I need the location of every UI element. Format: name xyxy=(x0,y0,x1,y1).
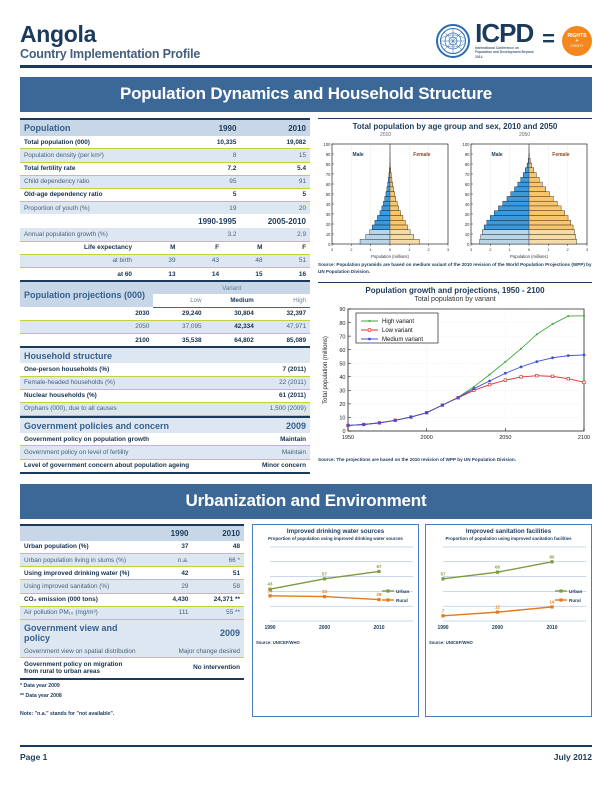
growth-source-note: Source: The projections are based on the… xyxy=(318,457,592,464)
projection-medium: 42,334 xyxy=(206,320,258,333)
row-value-1990: 5 xyxy=(171,188,241,201)
svg-text:33: 33 xyxy=(322,589,327,594)
row-label: Government policy on migration from rura… xyxy=(20,658,141,679)
row-value: 7 (2011) xyxy=(211,363,310,376)
svg-text:60: 60 xyxy=(465,182,470,187)
un-emblem-icon xyxy=(436,24,470,58)
row-value: Major change desired xyxy=(141,645,244,658)
table-row: Urban population living in slums (%) n.a… xyxy=(20,554,244,567)
population-pyramid-chart: Total population by age group and sex, 2… xyxy=(318,118,592,276)
svg-text:2: 2 xyxy=(567,247,570,252)
row-label: Annual population growth (%) xyxy=(20,228,171,241)
svg-text:Urban: Urban xyxy=(569,589,582,594)
row-label: Urban population (%) xyxy=(20,541,141,554)
growth-chart-subtitle: Total population by variant xyxy=(318,296,592,303)
svg-text:2010: 2010 xyxy=(546,625,557,631)
table-row: Government view on spatial distribution … xyxy=(20,645,244,658)
svg-text:Female: Female xyxy=(413,152,430,158)
row-value-2010: 51 xyxy=(192,567,244,580)
table-row: at birth 39 43 48 51 xyxy=(20,254,310,267)
row-label: Total population (000) xyxy=(20,136,171,149)
svg-text:Urban: Urban xyxy=(396,589,409,594)
svg-text:0: 0 xyxy=(389,247,392,252)
svg-text:70: 70 xyxy=(465,172,470,177)
projection-medium: 30,804 xyxy=(206,307,258,320)
row-label: at birth xyxy=(20,254,136,267)
row-label: One-person households (%) xyxy=(20,363,211,376)
svg-text:1990: 1990 xyxy=(437,625,448,631)
svg-text:2: 2 xyxy=(428,247,431,252)
variant-label: Variant xyxy=(153,281,310,294)
table-row: Female-headed households (%) 22 (2011) xyxy=(20,376,310,389)
pyramid-panel-2050: 2050 0102030405060708090100MaleFemale321… xyxy=(457,132,592,260)
row-value: 16 xyxy=(267,268,311,281)
svg-text:2010: 2010 xyxy=(373,625,384,631)
pyramid-source-note: Source: Population pyramids are based on… xyxy=(318,262,592,276)
table-row: Urban population (%) 37 48 xyxy=(20,541,244,554)
footnote-1: * Data year 2009 xyxy=(20,682,244,690)
footer-divider xyxy=(20,745,592,748)
header-divider xyxy=(20,65,592,68)
table-row: Orphans (000), due to all causes 1,500 (… xyxy=(20,402,310,415)
svg-text:90: 90 xyxy=(465,152,470,157)
growth-chart-svg: 01020304050607080901950200020502100Total… xyxy=(318,303,590,455)
svg-text:Female: Female xyxy=(552,152,569,158)
row-label: at 60 xyxy=(20,268,136,281)
population-table-title: Population xyxy=(20,119,171,136)
sanitation-source-note: Source: UNICEF/WHO xyxy=(429,640,588,645)
projection-low: 29,240 xyxy=(153,307,205,320)
variant-col-medium: Medium xyxy=(206,294,258,307)
policies-header-row: Government policies and concern 2009 xyxy=(20,417,310,433)
water-chart-title: Improved drinking water sources xyxy=(256,528,415,535)
row-value-1990: 7.2 xyxy=(171,162,241,175)
sanitation-chart-subtitle: Proportion of population using improved … xyxy=(429,536,588,541)
svg-text:60: 60 xyxy=(339,348,345,354)
growth-value-2: 2.9 xyxy=(240,228,310,241)
svg-text:29: 29 xyxy=(377,592,382,597)
pyramid-chart-title: Total population by age group and sex, 2… xyxy=(318,122,592,131)
projection-low: 37,095 xyxy=(153,320,205,333)
icpd-acronym: ICPD xyxy=(475,22,535,45)
water-chart-subtitle: Proportion of population using improved … xyxy=(256,536,415,541)
svg-text:2: 2 xyxy=(489,247,492,252)
svg-text:1: 1 xyxy=(547,247,550,252)
population-charts-column: Total population by age group and sex, 2… xyxy=(318,118,592,474)
row-label: Population density (per km²) xyxy=(20,149,171,162)
col-year-2010: 2010 xyxy=(240,119,310,136)
svg-text:100: 100 xyxy=(463,142,471,147)
policies-year: 2009 xyxy=(211,417,310,433)
svg-text:2: 2 xyxy=(350,247,353,252)
row-value-1990: 8 xyxy=(171,149,241,162)
table-row: One-person households (%) 7 (2011) xyxy=(20,363,310,376)
government-policies-table: Government policies and concern 2009 Gov… xyxy=(20,416,310,474)
row-label: Government view on spatial distribution xyxy=(20,645,141,658)
svg-text:1: 1 xyxy=(370,247,373,252)
row-value-2010: 19,082 xyxy=(240,136,310,149)
table-row: Old-age dependency ratio 5 5 xyxy=(20,188,310,201)
sanitation-chart-svg: 19902000201057668071219UrbanRural xyxy=(429,541,588,639)
population-table: Population 1990 2010 Total population (0… xyxy=(20,118,310,242)
row-label: Using improved sanitation (%) xyxy=(20,580,141,593)
svg-text:57: 57 xyxy=(322,571,327,576)
table-row: Population density (per km²) 8 15 xyxy=(20,149,310,162)
svg-text:3: 3 xyxy=(447,247,450,252)
table-row: Government policy on level of fertility … xyxy=(20,446,310,459)
water-source-note: Source: UNICEF/WHO xyxy=(256,640,415,645)
growth-chart-title: Population growth and projections, 1950 … xyxy=(318,286,592,295)
table-row: Using improved sanitation (%) 29 58 xyxy=(20,580,244,593)
svg-text:Rural: Rural xyxy=(569,598,581,603)
row-value-1990: 42 xyxy=(141,567,193,580)
svg-text:2000: 2000 xyxy=(319,625,330,631)
row-label: Government policy on level of fertility xyxy=(20,446,211,459)
variant-col-low: Low xyxy=(153,294,205,307)
document-subtitle: Country Implementation Profile xyxy=(20,47,200,61)
projection-year: 2050 xyxy=(20,320,153,333)
row-label: Air pollution PM₁₀ (mg/m³) xyxy=(20,606,141,619)
row-value-1990: 29 xyxy=(141,580,193,593)
sex-col-f1: F xyxy=(180,242,224,255)
svg-text:90: 90 xyxy=(339,307,345,313)
row-value: No intervention xyxy=(141,658,244,679)
life-expectancy-label: Life expectancy xyxy=(20,242,136,255)
svg-text:1990: 1990 xyxy=(264,625,275,631)
page-number: Page 1 xyxy=(20,752,47,762)
svg-text:Medium variant: Medium variant xyxy=(382,337,423,343)
table-row: Government policy on population growth M… xyxy=(20,433,310,446)
row-value-2010: 58 xyxy=(192,580,244,593)
document-header: Angola Country Implementation Profile IC… xyxy=(20,0,592,61)
row-value: 22 (2011) xyxy=(211,376,310,389)
urban-col-2010: 2010 xyxy=(192,525,244,541)
country-name: Angola xyxy=(20,22,200,46)
svg-text:50: 50 xyxy=(339,361,345,367)
col-period-1990-1995: 1990-1995 xyxy=(171,214,241,228)
projection-year: 2100 xyxy=(20,333,153,346)
row-value: 48 xyxy=(223,254,267,267)
svg-text:19: 19 xyxy=(550,599,555,604)
variant-header-row: Population projections (000) Variant xyxy=(20,281,310,294)
svg-text:1: 1 xyxy=(408,247,411,252)
sanitation-panel: Improved sanitation facilities Proportio… xyxy=(425,524,592,717)
svg-text:70: 70 xyxy=(326,172,331,177)
projection-medium: 64,802 xyxy=(206,333,258,346)
row-value-2010: 48 xyxy=(192,541,244,554)
section-banner-population: Population Dynamics and Household Struct… xyxy=(20,77,592,112)
svg-text:70: 70 xyxy=(339,334,345,340)
svg-text:30: 30 xyxy=(326,212,331,217)
household-title: Household structure xyxy=(20,347,310,363)
document-page: Angola Country Implementation Profile IC… xyxy=(0,0,612,792)
urban-policy-title: Government view and policy xyxy=(20,619,141,645)
svg-text:40: 40 xyxy=(465,202,470,207)
svg-text:43: 43 xyxy=(268,582,273,587)
row-value: Maintain xyxy=(211,433,310,446)
svg-text:2000: 2000 xyxy=(421,435,433,441)
table-row: Level of government concern about popula… xyxy=(20,459,310,473)
row-label: Orphans (000), due to all causes xyxy=(20,402,211,415)
sex-col-m1: M xyxy=(136,242,180,255)
row-value-2010: 20 xyxy=(240,202,310,215)
icpd-wordmark: ICPD International Conference on Populat… xyxy=(475,22,535,59)
row-value-2010: 5 xyxy=(240,188,310,201)
table-row: Child dependency ratio 95 91 xyxy=(20,175,310,188)
row-value-2010: 5.4 xyxy=(240,162,310,175)
svg-text:High variant: High variant xyxy=(382,319,414,325)
row-label: Child dependency ratio xyxy=(20,175,171,188)
row-label: Government policy on population growth xyxy=(20,433,211,446)
row-label: Female-headed households (%) xyxy=(20,376,211,389)
pyramid-svg-2050: 0102030405060708090100MaleFemale3210123P… xyxy=(457,138,589,260)
svg-text:20: 20 xyxy=(465,222,470,227)
svg-text:57: 57 xyxy=(441,571,446,576)
svg-text:2100: 2100 xyxy=(578,435,590,441)
row-label: Total fertility rate xyxy=(20,162,171,175)
row-label: Old-age dependency ratio xyxy=(20,188,171,201)
svg-text:12: 12 xyxy=(495,604,500,609)
svg-text:50: 50 xyxy=(326,192,331,197)
svg-text:2000: 2000 xyxy=(492,625,503,631)
table-row: CO₂ emission (000 tons) 4,430 24,371 ** xyxy=(20,593,244,606)
col-period-2005-2010: 2005-2010 xyxy=(240,214,310,228)
projection-low: 35,538 xyxy=(153,333,205,346)
row-value-1990: 111 xyxy=(141,606,193,619)
row-label: Proportion of youth (%) xyxy=(20,202,171,215)
row-value-2010: 66 * xyxy=(192,554,244,567)
table-row: Proportion of youth (%) 19 20 xyxy=(20,202,310,215)
footnote-2: ** Data year 2008 xyxy=(20,692,244,700)
icpd-logo: ICPD International Conference on Populat… xyxy=(436,22,592,59)
table-row: Government policy on migration from rura… xyxy=(20,658,244,679)
table-row: 2030 29,240 30,804 32,397 xyxy=(20,307,310,320)
table-row: 2100 35,538 64,802 85,089 xyxy=(20,333,310,346)
svg-text:66: 66 xyxy=(495,564,500,569)
publication-date: July 2012 xyxy=(554,752,592,762)
svg-text:80: 80 xyxy=(326,162,331,167)
row-value: 51 xyxy=(267,254,311,267)
row-label: Level of government concern about popula… xyxy=(20,459,211,473)
svg-text:40: 40 xyxy=(339,375,345,381)
badge-line-3: DIGNITY xyxy=(571,45,584,49)
household-header-row: Household structure xyxy=(20,347,310,363)
projections-title: Population projections (000) xyxy=(20,281,153,307)
projection-high: 85,089 xyxy=(258,333,310,346)
sex-col-m2: M xyxy=(223,242,267,255)
row-value: 1,500 (2009) xyxy=(211,402,310,415)
row-label: Nuclear households (%) xyxy=(20,389,211,402)
rights-dignity-badge: RIGHTS + DIGNITY xyxy=(562,26,592,56)
sanitation-chart-title: Improved sanitation facilities xyxy=(429,528,588,535)
household-structure-table: Household structure One-person household… xyxy=(20,346,310,416)
urban-policy-header-row: Government view and policy 2009 xyxy=(20,619,244,645)
svg-text:20: 20 xyxy=(339,402,345,408)
row-value-1990: 10,335 xyxy=(171,136,241,149)
svg-text:10: 10 xyxy=(465,232,470,237)
environment-charts-column: Improved drinking water sources Proporti… xyxy=(252,524,592,717)
svg-text:60: 60 xyxy=(326,182,331,187)
water-chart-svg: 199020002010435767343329UrbanRural xyxy=(256,541,415,639)
svg-text:80: 80 xyxy=(339,321,345,327)
svg-text:30: 30 xyxy=(339,388,345,394)
row-label: Urban population living in slums (%) xyxy=(20,554,141,567)
svg-text:3: 3 xyxy=(331,247,334,252)
period-header-row: 1990-1995 2005-2010 xyxy=(20,214,310,228)
svg-text:Population (millions): Population (millions) xyxy=(510,254,548,259)
svg-text:3: 3 xyxy=(586,247,589,252)
table-row: Air pollution PM₁₀ (mg/m³) 111 55 ** xyxy=(20,606,244,619)
svg-text:Total population (millions): Total population (millions) xyxy=(323,336,329,404)
row-value-2010: 15 xyxy=(240,149,310,162)
svg-text:Male: Male xyxy=(353,152,364,158)
svg-text:20: 20 xyxy=(326,222,331,227)
svg-text:10: 10 xyxy=(339,416,345,422)
projection-high: 47,971 xyxy=(258,320,310,333)
equals-sign: = xyxy=(542,26,555,52)
population-growth-chart: Population growth and projections, 1950 … xyxy=(318,282,592,464)
row-value-2010: 55 ** xyxy=(192,606,244,619)
svg-text:Male: Male xyxy=(492,152,503,158)
urbanization-tables-column: 1990 2010 Urban population (%) 37 48 Urb… xyxy=(20,524,244,717)
urban-col-1990: 1990 xyxy=(141,525,193,541)
svg-text:Low variant: Low variant xyxy=(382,328,413,334)
svg-text:40: 40 xyxy=(326,202,331,207)
svg-text:90: 90 xyxy=(326,152,331,157)
urbanization-table: 1990 2010 Urban population (%) 37 48 Urb… xyxy=(20,524,244,680)
availability-note: Note: "n.a." stands for "not available". xyxy=(20,711,244,717)
row-label: Using improved drinking water (%) xyxy=(20,567,141,580)
drinking-water-panel: Improved drinking water sources Proporti… xyxy=(252,524,419,717)
row-value-2010: 91 xyxy=(240,175,310,188)
policies-title: Government policies and concern xyxy=(20,417,211,433)
table-row: Total population (000) 10,335 19,082 xyxy=(20,136,310,149)
growth-value-1: 3.2 xyxy=(171,228,241,241)
svg-text:100: 100 xyxy=(324,142,332,147)
table-row: Total fertility rate 7.2 5.4 xyxy=(20,162,310,175)
svg-text:3: 3 xyxy=(470,247,473,252)
svg-text:Population (millions): Population (millions) xyxy=(371,254,409,259)
row-value: Minor concern xyxy=(211,459,310,473)
row-value: 15 xyxy=(223,268,267,281)
pyramid-panel-2010: 2010 0102030405060708090100MaleFemale321… xyxy=(318,132,453,260)
table-row-growth: Annual population growth (%) 3.2 2.9 xyxy=(20,228,310,241)
table-header-row: Population 1990 2010 xyxy=(20,119,310,136)
row-value-1990: 4,430 xyxy=(141,593,193,606)
section-banner-urbanization: Urbanization and Environment xyxy=(20,484,592,519)
urban-policy-year: 2009 xyxy=(141,619,244,645)
table-row: Using improved drinking water (%) 42 51 xyxy=(20,567,244,580)
document-footer: Page 1 July 2012 xyxy=(20,745,592,763)
svg-text:80: 80 xyxy=(550,554,555,559)
svg-text:2050: 2050 xyxy=(499,435,511,441)
row-value-1990: n.a. xyxy=(141,554,193,567)
svg-text:10: 10 xyxy=(326,232,331,237)
row-value-1990: 95 xyxy=(171,175,241,188)
svg-text:Rural: Rural xyxy=(396,598,408,603)
table-row: at 60 13 14 15 16 xyxy=(20,268,310,281)
projection-year: 2030 xyxy=(20,307,153,320)
svg-text:34: 34 xyxy=(268,588,273,593)
population-projections-table: Population projections (000) Variant Low… xyxy=(20,280,310,346)
row-value: 39 xyxy=(136,254,180,267)
row-value-2010: 24,371 ** xyxy=(192,593,244,606)
svg-text:1950: 1950 xyxy=(342,435,354,441)
svg-text:30: 30 xyxy=(465,212,470,217)
svg-text:80: 80 xyxy=(465,162,470,167)
table-row: Nuclear households (%) 61 (2011) xyxy=(20,389,310,402)
pyramid-svg-2010: 0102030405060708090100MaleFemale3210123P… xyxy=(318,138,450,260)
population-tables-column: Population 1990 2010 Total population (0… xyxy=(20,118,310,474)
svg-text:50: 50 xyxy=(465,192,470,197)
variant-col-high: High xyxy=(258,294,310,307)
table-row: 2050 37,095 42,334 47,971 xyxy=(20,320,310,333)
row-value-1990: 37 xyxy=(141,541,193,554)
row-label: CO₂ emission (000 tons) xyxy=(20,593,141,606)
sex-col-f2: F xyxy=(267,242,311,255)
row-value: 61 (2011) xyxy=(211,389,310,402)
projection-high: 32,397 xyxy=(258,307,310,320)
svg-text:7: 7 xyxy=(442,608,445,613)
row-value: 14 xyxy=(180,268,224,281)
svg-text:1: 1 xyxy=(509,247,512,252)
svg-text:67: 67 xyxy=(377,564,382,569)
svg-text:0: 0 xyxy=(528,247,531,252)
col-year-1990: 1990 xyxy=(171,119,241,136)
urban-header-row: 1990 2010 xyxy=(20,525,244,541)
life-expectancy-header-row: Life expectancy M F M F xyxy=(20,242,310,255)
title-block: Angola Country Implementation Profile xyxy=(20,22,200,61)
row-value: 43 xyxy=(180,254,224,267)
row-value: 13 xyxy=(136,268,180,281)
row-value-1990: 19 xyxy=(171,202,241,215)
row-value: Maintain xyxy=(211,446,310,459)
life-expectancy-table: Life expectancy M F M F at birth 39 43 4… xyxy=(20,242,310,281)
